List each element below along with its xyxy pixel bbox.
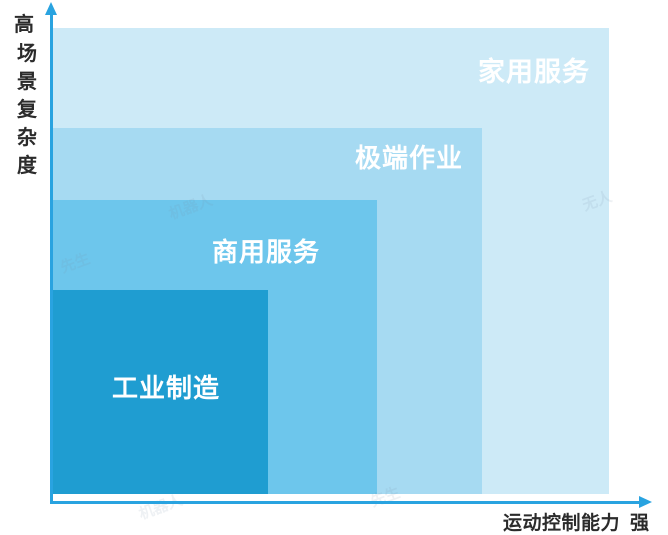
y-axis-arrow-icon [45, 2, 57, 15]
x-axis-end-label: 强 [630, 508, 649, 535]
y-axis-top-label: 高 [14, 8, 34, 37]
quadrant-chart: 机器人 无人 先生 机器人 先生 家用服务 极端作业 商用服务 工业制造 高 场… [0, 0, 668, 533]
block-label-home-service: 家用服务 [478, 50, 590, 89]
block-label-industrial-manufacturing: 工业制造 [112, 368, 220, 405]
x-axis-arrow-icon [639, 496, 652, 508]
x-axis-line [51, 501, 645, 504]
watermark: 机器人 [136, 489, 185, 524]
block-label-commercial-service: 商用服务 [212, 232, 320, 269]
block-label-extreme-operation: 极端作业 [355, 138, 463, 175]
y-axis-title: 场景复杂度 [14, 40, 40, 180]
y-axis-line [50, 12, 53, 504]
x-axis-title: 运动控制能力 [503, 508, 620, 535]
